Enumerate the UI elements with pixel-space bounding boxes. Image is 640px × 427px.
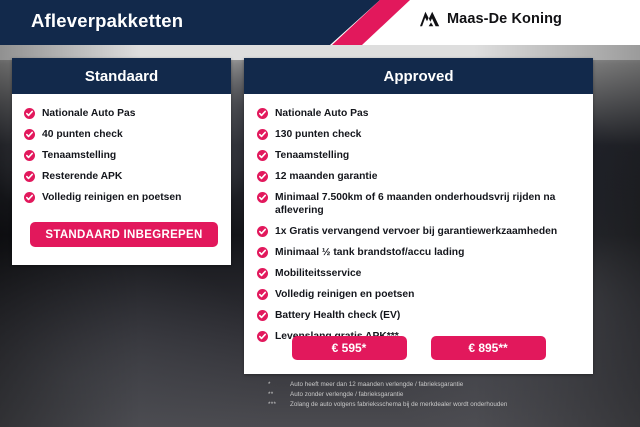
- feature-label: Minimaal 7.500km of 6 maanden onderhouds…: [275, 191, 593, 219]
- list-item: Minimaal ½ tank brandstof/accu lading: [257, 246, 593, 260]
- afleverpakketten-promo-slide: Afleverpakketten Maas-De Koning Standaar…: [0, 0, 640, 427]
- check-circle-icon: [257, 171, 268, 182]
- feature-label: Volledig reinigen en poetsen: [42, 191, 181, 205]
- check-circle-icon: [24, 129, 35, 140]
- price-button-595[interactable]: € 595*: [292, 336, 407, 360]
- footnotes: * Auto heeft meer dan 12 maanden verleng…: [268, 380, 598, 411]
- feature-label: 1x Gratis vervangend vervoer bij garanti…: [275, 225, 557, 239]
- feature-list-standaard: Nationale Auto Pas 40 punten check Tenaa…: [12, 94, 231, 204]
- list-item: Minimaal 7.500km of 6 maanden onderhouds…: [257, 191, 593, 219]
- check-circle-icon: [24, 171, 35, 182]
- list-item: Mobiliteitsservice: [257, 267, 593, 281]
- check-circle-icon: [257, 247, 268, 258]
- page-header: Afleverpakketten Maas-De Koning: [0, 0, 640, 45]
- footnote-text: Zolang de auto volgens fabrieksschema bi…: [290, 400, 598, 410]
- list-item: Tenaamstelling: [24, 149, 231, 163]
- card-title-standaard: Standaard: [12, 58, 231, 94]
- footnote-marker: *: [268, 380, 290, 390]
- feature-label: 12 maanden garantie: [275, 170, 377, 184]
- footnote-row: *** Zolang de auto volgens fabrieksschem…: [268, 400, 598, 410]
- check-circle-icon: [257, 268, 268, 279]
- list-item: Volledig reinigen en poetsen: [24, 191, 231, 205]
- check-circle-icon: [257, 226, 268, 237]
- feature-label: Minimaal ½ tank brandstof/accu lading: [275, 246, 464, 260]
- list-item: 12 maanden garantie: [257, 170, 593, 184]
- price-button-895[interactable]: € 895**: [431, 336, 546, 360]
- feature-label: Tenaamstelling: [42, 149, 116, 163]
- list-item: 130 punten check: [257, 128, 593, 142]
- feature-label: Battery Health check (EV): [275, 309, 400, 323]
- footnote-marker: ***: [268, 400, 290, 410]
- feature-list-approved: Nationale Auto Pas 130 punten check Tena…: [244, 94, 593, 344]
- check-circle-icon: [257, 310, 268, 321]
- check-circle-icon: [24, 150, 35, 161]
- brand-logo: Maas-De Koning: [419, 11, 562, 27]
- footnote-text: Auto heeft meer dan 12 maanden verlengde…: [290, 380, 598, 390]
- check-circle-icon: [257, 108, 268, 119]
- feature-label: Volledig reinigen en poetsen: [275, 288, 414, 302]
- list-item: Battery Health check (EV): [257, 309, 593, 323]
- feature-label: Nationale Auto Pas: [275, 107, 368, 121]
- check-circle-icon: [257, 150, 268, 161]
- check-circle-icon: [24, 108, 35, 119]
- list-item: Volledig reinigen en poetsen: [257, 288, 593, 302]
- card-title-approved: Approved: [244, 58, 593, 94]
- feature-label: 130 punten check: [275, 128, 361, 142]
- feature-label: Nationale Auto Pas: [42, 107, 135, 121]
- list-item: Tenaamstelling: [257, 149, 593, 163]
- feature-label: Resterende APK: [42, 170, 122, 184]
- footnote-marker: **: [268, 390, 290, 400]
- feature-label: 40 punten check: [42, 128, 123, 142]
- footnote-text: Auto zonder verlengde / fabrieksgarantie: [290, 390, 598, 400]
- brand-name: Maas-De Koning: [447, 11, 562, 27]
- page-title: Afleverpakketten: [31, 10, 183, 32]
- list-item: Nationale Auto Pas: [24, 107, 231, 121]
- package-card-approved: Approved Nationale Auto Pas 130 punten c…: [244, 58, 593, 374]
- list-item: Nationale Auto Pas: [257, 107, 593, 121]
- list-item: 1x Gratis vervangend vervoer bij garanti…: [257, 225, 593, 239]
- footnote-row: * Auto heeft meer dan 12 maanden verleng…: [268, 380, 598, 390]
- check-circle-icon: [257, 129, 268, 140]
- check-circle-icon: [257, 289, 268, 300]
- list-item: 40 punten check: [24, 128, 231, 142]
- price-button-row: € 595* € 895**: [244, 336, 593, 360]
- feature-label: Tenaamstelling: [275, 149, 349, 163]
- footnote-row: ** Auto zonder verlengde / fabrieksgaran…: [268, 390, 598, 400]
- feature-label: Mobiliteitsservice: [275, 267, 361, 281]
- maas-de-koning-m-logo-icon: [419, 11, 440, 27]
- list-item: Resterende APK: [24, 170, 231, 184]
- standaard-inbegrepen-button[interactable]: STANDAARD INBEGREPEN: [30, 222, 218, 247]
- package-card-standaard: Standaard Nationale Auto Pas 40 punten c…: [12, 58, 231, 265]
- check-circle-icon: [257, 192, 268, 203]
- check-circle-icon: [24, 192, 35, 203]
